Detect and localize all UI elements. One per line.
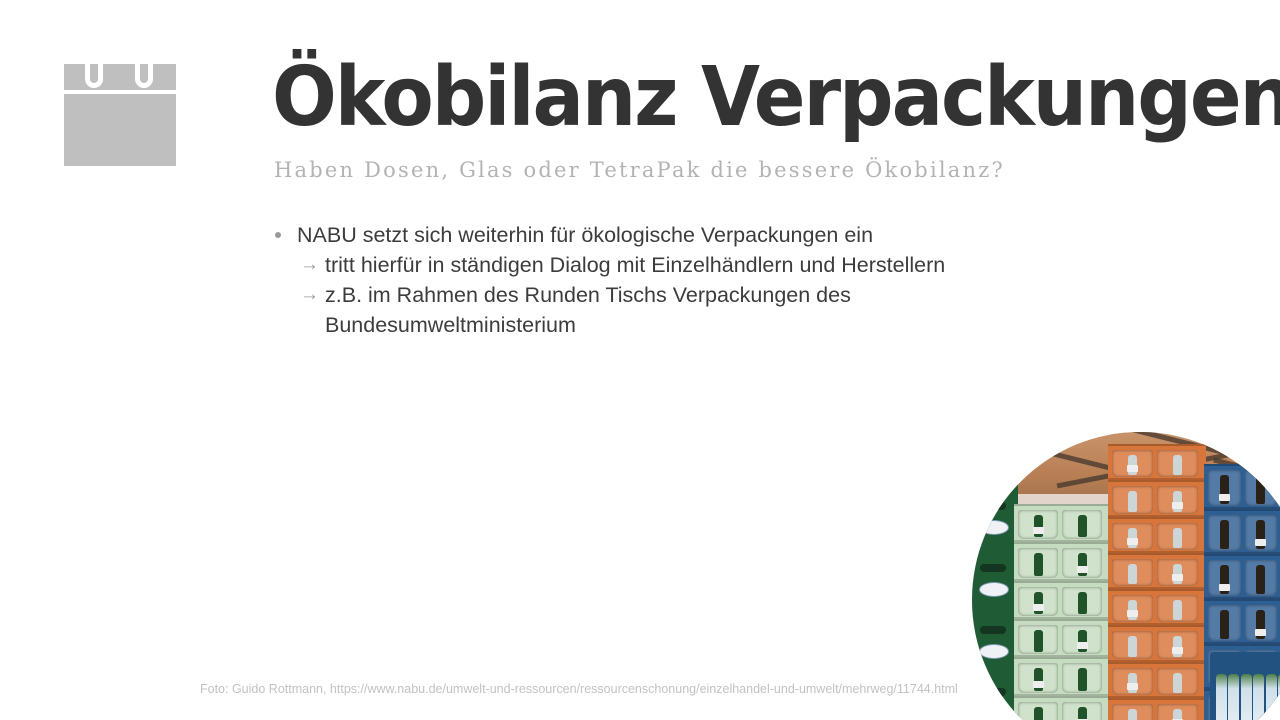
crate-cell: [1062, 625, 1102, 654]
crate-handle-slot: [980, 626, 1006, 634]
crate-cell: [1112, 523, 1153, 550]
crate-cell: [1062, 587, 1102, 616]
crate: [1014, 504, 1110, 542]
crate-cell: [1018, 587, 1058, 616]
bottle: [1078, 668, 1087, 690]
crate-logo: [979, 520, 1009, 535]
bullet-dot-icon: [275, 232, 281, 238]
crate-cell: [1157, 559, 1198, 586]
crate-cell: [1208, 605, 1241, 641]
crate: [1014, 542, 1110, 580]
crate: [1108, 698, 1206, 720]
arrow-right-icon: →: [300, 250, 319, 280]
bullet-list: NABU setzt sich weiterhin für ökologisch…: [272, 220, 992, 340]
crate-cell: [1112, 631, 1153, 658]
crate: [1204, 509, 1280, 554]
bottle: [1078, 592, 1087, 614]
bottle: [1256, 475, 1265, 504]
crate-logo: [979, 644, 1009, 659]
crate-handle-slot: [980, 564, 1006, 572]
list-item-label: z.B. im Rahmen des Runden Tischs Verpack…: [325, 283, 851, 337]
crate-cell: [1157, 631, 1198, 658]
bottle-label: [1033, 604, 1044, 611]
crate-cell: [1157, 704, 1198, 720]
photo-credit-caption: Foto: Guido Rottmann, https://www.nabu.d…: [200, 681, 958, 697]
bottle: [1128, 636, 1137, 656]
bottle: [1078, 707, 1087, 720]
crate-logo: [979, 706, 1009, 720]
bottle-label: [1033, 681, 1044, 688]
bottle: [1173, 600, 1182, 620]
crate: [1014, 696, 1110, 720]
crate: [1204, 554, 1280, 599]
ceiling-beam: [1005, 440, 1123, 474]
crate-cell: [1245, 515, 1278, 551]
crate: [1108, 480, 1206, 516]
crate: [1014, 657, 1110, 695]
bottle-label: [1077, 566, 1088, 573]
pet-bottle: [1216, 674, 1227, 720]
crate: [1014, 581, 1110, 619]
crate-logo: [979, 582, 1009, 597]
crate-cell: [1208, 515, 1241, 551]
bottle-label: [1077, 642, 1088, 649]
bottle: [1173, 528, 1182, 548]
crate-stack-dark-green: [972, 484, 1018, 720]
crate: [1014, 619, 1110, 657]
bottle: [1220, 610, 1229, 639]
crate-cell: [1245, 605, 1278, 641]
bottle-label: [1127, 610, 1138, 617]
bottle: [1078, 515, 1087, 537]
bottle: [1034, 553, 1043, 575]
pet-bottle: [1266, 674, 1277, 720]
crate-cell: [1245, 560, 1278, 596]
crate: [1108, 662, 1206, 698]
calendar-ring-left: [85, 54, 103, 88]
photo-beverage-crates: [972, 432, 1280, 720]
crate-cell: [1208, 470, 1241, 506]
bottle: [1173, 455, 1182, 475]
list-item: → z.B. im Rahmen des Runden Tischs Verpa…: [272, 280, 992, 340]
crate-cell: [1157, 523, 1198, 550]
bottle-label: [1255, 629, 1266, 636]
crate-cell: [1245, 470, 1278, 506]
crate: [1204, 599, 1280, 644]
crate-cell: [1112, 595, 1153, 622]
calendar-icon: [64, 62, 176, 166]
list-item-label: NABU setzt sich weiterhin für ökologisch…: [297, 223, 873, 247]
bottle: [1128, 491, 1137, 511]
crate-cell: [1018, 663, 1058, 692]
crate-stack-orange: [1108, 444, 1206, 720]
pet-bottle: [1228, 674, 1239, 720]
crate-cell: [1157, 486, 1198, 513]
page-subtitle: Haben Dosen, Glas oder TetraPak die bess…: [274, 156, 1005, 184]
bottle: [1034, 630, 1043, 652]
ceiling-beam: [972, 432, 1071, 452]
crate-cell: [1112, 704, 1153, 720]
crate-handle-slot: [980, 502, 1006, 510]
crate: [1108, 553, 1206, 589]
pet-bottle: [1253, 674, 1264, 720]
arrow-right-icon: →: [300, 280, 319, 310]
bottle-label: [1172, 574, 1183, 581]
page-title: Ökobilanz Verpackungen: [272, 52, 1280, 144]
list-item-label: tritt hierfür in ständigen Dialog mit Ei…: [325, 253, 945, 277]
bottle-label: [1255, 539, 1266, 546]
bottle: [1173, 673, 1182, 693]
bottle: [1128, 564, 1137, 584]
bottle-label: [1172, 502, 1183, 509]
bottle: [1128, 709, 1137, 720]
crate-handle-slot: [980, 688, 1006, 696]
bottle-label: [1127, 465, 1138, 472]
crate-cell: [1112, 668, 1153, 695]
list-item: → tritt hierfür in ständigen Dialog mit …: [272, 250, 992, 280]
crate-cell: [1112, 450, 1153, 477]
bottle: [1256, 565, 1265, 594]
crate-stack-light-green: [1014, 504, 1110, 720]
crate-cell: [1112, 486, 1153, 513]
crate-cell: [1018, 510, 1058, 539]
calendar-body: [64, 94, 176, 166]
bottle-label: [1219, 494, 1230, 501]
bottle: [1034, 707, 1043, 720]
pet-bottle: [1241, 674, 1252, 720]
bottle-label: [1172, 647, 1183, 654]
crate-cell: [1062, 510, 1102, 539]
crate-cell: [1208, 560, 1241, 596]
crate-cell: [1018, 702, 1058, 720]
calendar-ring-right: [135, 54, 153, 88]
crate-cell: [1062, 548, 1102, 577]
crate-water-bottles: [1210, 652, 1280, 720]
bottle: [1220, 520, 1229, 549]
crate-cell: [1018, 548, 1058, 577]
crate: [1108, 589, 1206, 625]
crate-cell: [1062, 663, 1102, 692]
crate-cell: [1157, 668, 1198, 695]
crate-cell: [1062, 702, 1102, 720]
crate-cell: [1018, 625, 1058, 654]
crate: [1108, 517, 1206, 553]
crate-cell: [1157, 450, 1198, 477]
bottle-label: [1127, 683, 1138, 690]
crate: [1108, 625, 1206, 661]
bottle-label: [1127, 538, 1138, 545]
calendar-header-band: [64, 64, 176, 90]
crate-cell: [1112, 559, 1153, 586]
crate-cell: [1157, 595, 1198, 622]
bottle-label: [1033, 527, 1044, 534]
slide: Ökobilanz Verpackungen Haben Dosen, Glas…: [0, 0, 1280, 720]
crate: [1108, 444, 1206, 480]
list-item: NABU setzt sich weiterhin für ökologisch…: [272, 220, 992, 250]
bottle-label: [1219, 584, 1230, 591]
crate: [1204, 464, 1280, 509]
